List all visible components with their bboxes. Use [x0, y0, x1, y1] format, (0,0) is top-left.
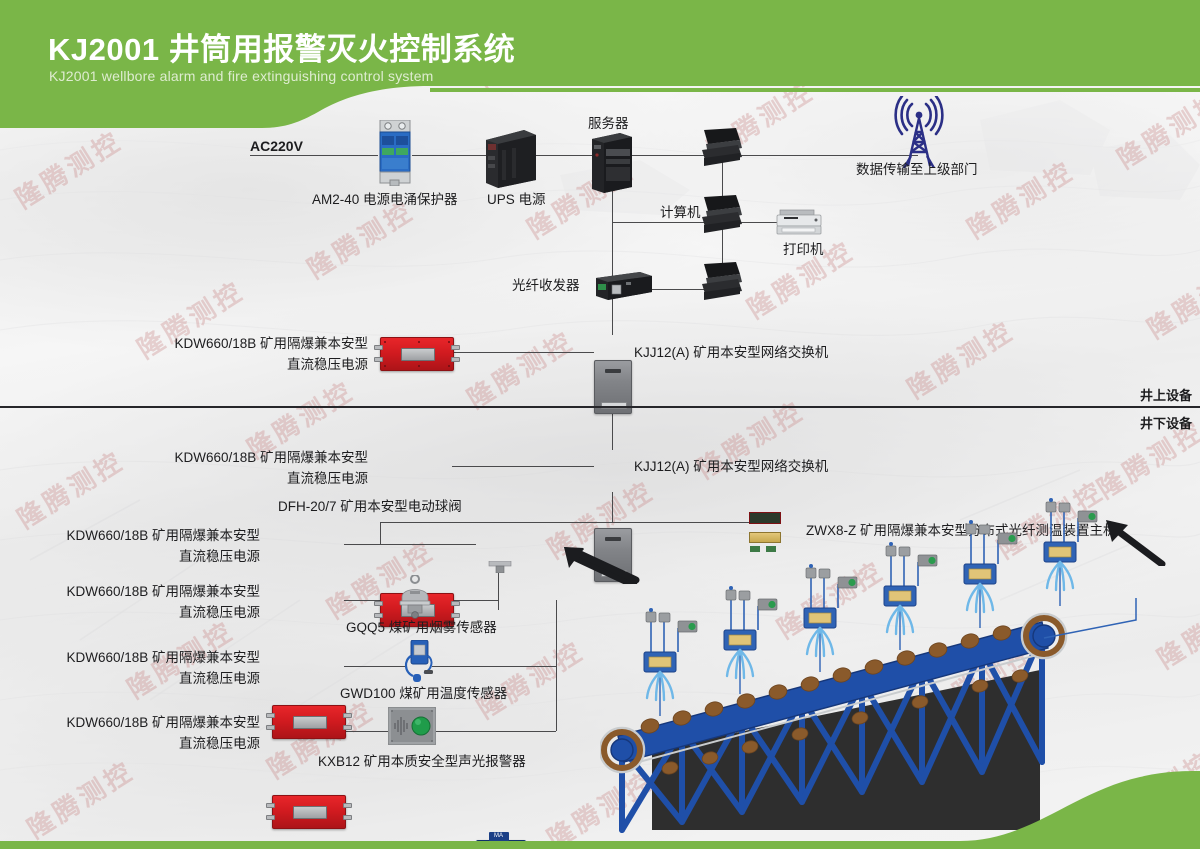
temperature-sensor-label: GWD100 煤矿用温度传感器: [340, 684, 507, 703]
red-explosion-proof-box-icon: [380, 337, 454, 371]
surface-switch-label: KJJ12(A) 矿用本安型网络交换机: [634, 343, 828, 362]
smoke-sensor-icon: [396, 575, 434, 619]
page-header: KJ2001 井筒用报警灭火控制系统 KJ2001 wellbore alarm…: [0, 0, 1200, 128]
computer-icon: [700, 128, 744, 170]
printer-label: 打印机: [783, 240, 824, 259]
underground-ps2-line2: 直流稳压电源: [60, 547, 260, 566]
computer-label: 计算机: [660, 203, 701, 222]
dts-display: [749, 512, 781, 524]
page-subtitle: KJ2001 wellbore alarm and fire extinguis…: [49, 68, 434, 84]
audible-visual-alarm-icon: [388, 707, 436, 745]
divider-label-above: 井上设备: [1140, 385, 1192, 404]
underground-ps2-line1: KDW660/18B 矿用隔爆兼本安型: [60, 526, 260, 545]
diagram-canvas: 隆腾测控 隆腾测控 隆腾测控 隆腾测控 隆腾测控 隆腾测控 隆腾测控 隆腾测控 …: [0, 0, 1200, 849]
antenna-icon: [890, 96, 948, 168]
alarm-label: KXB12 矿用本质安全型声光报警器: [318, 752, 526, 771]
valve-actuator-icon: [488, 560, 512, 572]
wire-temp-to-bus: [432, 666, 556, 667]
wire-valve-bus-join: [498, 600, 499, 608]
surge-protector-icon: [378, 120, 412, 186]
wire-kdw2-lead: [344, 544, 380, 545]
wire-kdw-to-switch-upper: [452, 352, 594, 353]
underground-ps5-line1: KDW660/18B 矿用隔爆兼本安型: [60, 713, 260, 732]
red-explosion-proof-box-icon: [272, 705, 346, 739]
server-icon: [592, 133, 632, 193]
wire-alarm-to-bus: [436, 731, 556, 732]
wire-spd-to-ups: [412, 155, 486, 156]
ups-label: UPS 电源: [487, 190, 546, 209]
printer-icon: [776, 208, 822, 238]
ups-icon: [486, 130, 536, 188]
wire-to-antenna: [722, 155, 918, 156]
footer-green-bar: [0, 841, 1200, 849]
surface-underground-divider: [0, 406, 1200, 408]
valve-label: DFH-20/7 矿用本安型电动球阀: [278, 497, 462, 516]
server-label: 服务器: [588, 114, 629, 133]
underground-ps1-line2: 直流稳压电源: [168, 469, 368, 488]
wire-switch-down: [612, 492, 613, 522]
ac-power-label: AC220V: [250, 137, 303, 156]
wire-kdw2-to-valve: [380, 544, 476, 545]
spray-station: [1026, 498, 1156, 606]
wire-kdw5-to-alarm: [344, 731, 388, 732]
fiber-transceiver-icon: [596, 270, 652, 300]
surface-power-supply-label-line2: 直流稳压电源: [168, 355, 368, 374]
underground-switch-label: KJJ12(A) 矿用本安型网络交换机: [634, 457, 828, 476]
underground-ps4-line1: KDW660/18B 矿用隔爆兼本安型: [60, 648, 260, 667]
underground-ps3-line1: KDW660/18B 矿用隔爆兼本安型: [60, 582, 260, 601]
underground-ps1-line1: KDW660/18B 矿用隔爆兼本安型: [168, 448, 368, 467]
wire-trunk-to-dts: [380, 522, 772, 523]
wire-sensor-collector-bus: [556, 600, 557, 731]
computer-icon: [700, 195, 744, 237]
fiber-transceiver-label: 光纤收发器: [512, 276, 580, 295]
antenna-label: 数据传输至上级部门: [856, 160, 978, 179]
wire-redbox-to-conveyor: [1040, 598, 1150, 646]
red-explosion-proof-box-icon: [272, 795, 346, 829]
wire-kdw4-to-temp: [344, 666, 406, 667]
computer-icon: [700, 262, 744, 304]
underground-ps5-line2: 直流稳压电源: [60, 734, 260, 753]
underground-ps4-line2: 直流稳压电源: [60, 669, 260, 688]
underground-ps3-line2: 直流稳压电源: [60, 603, 260, 622]
divider-label-below: 井下设备: [1140, 413, 1192, 432]
surface-power-supply-label-line1: KDW660/18B 矿用隔爆兼本安型: [168, 334, 368, 353]
wire-kdw1-to-switch: [452, 466, 594, 467]
wire-trunk-left-down: [380, 522, 381, 544]
temperature-sensor-icon: [402, 640, 436, 684]
smoke-sensor-label: GQQ5 煤矿用烟雾传感器: [346, 618, 497, 637]
surge-protector-label: AM2-40 电源电涌保护器: [312, 190, 458, 209]
footer-green-curve: [960, 771, 1200, 841]
page-title: KJ2001 井筒用报警灭火控制系统: [48, 24, 515, 69]
